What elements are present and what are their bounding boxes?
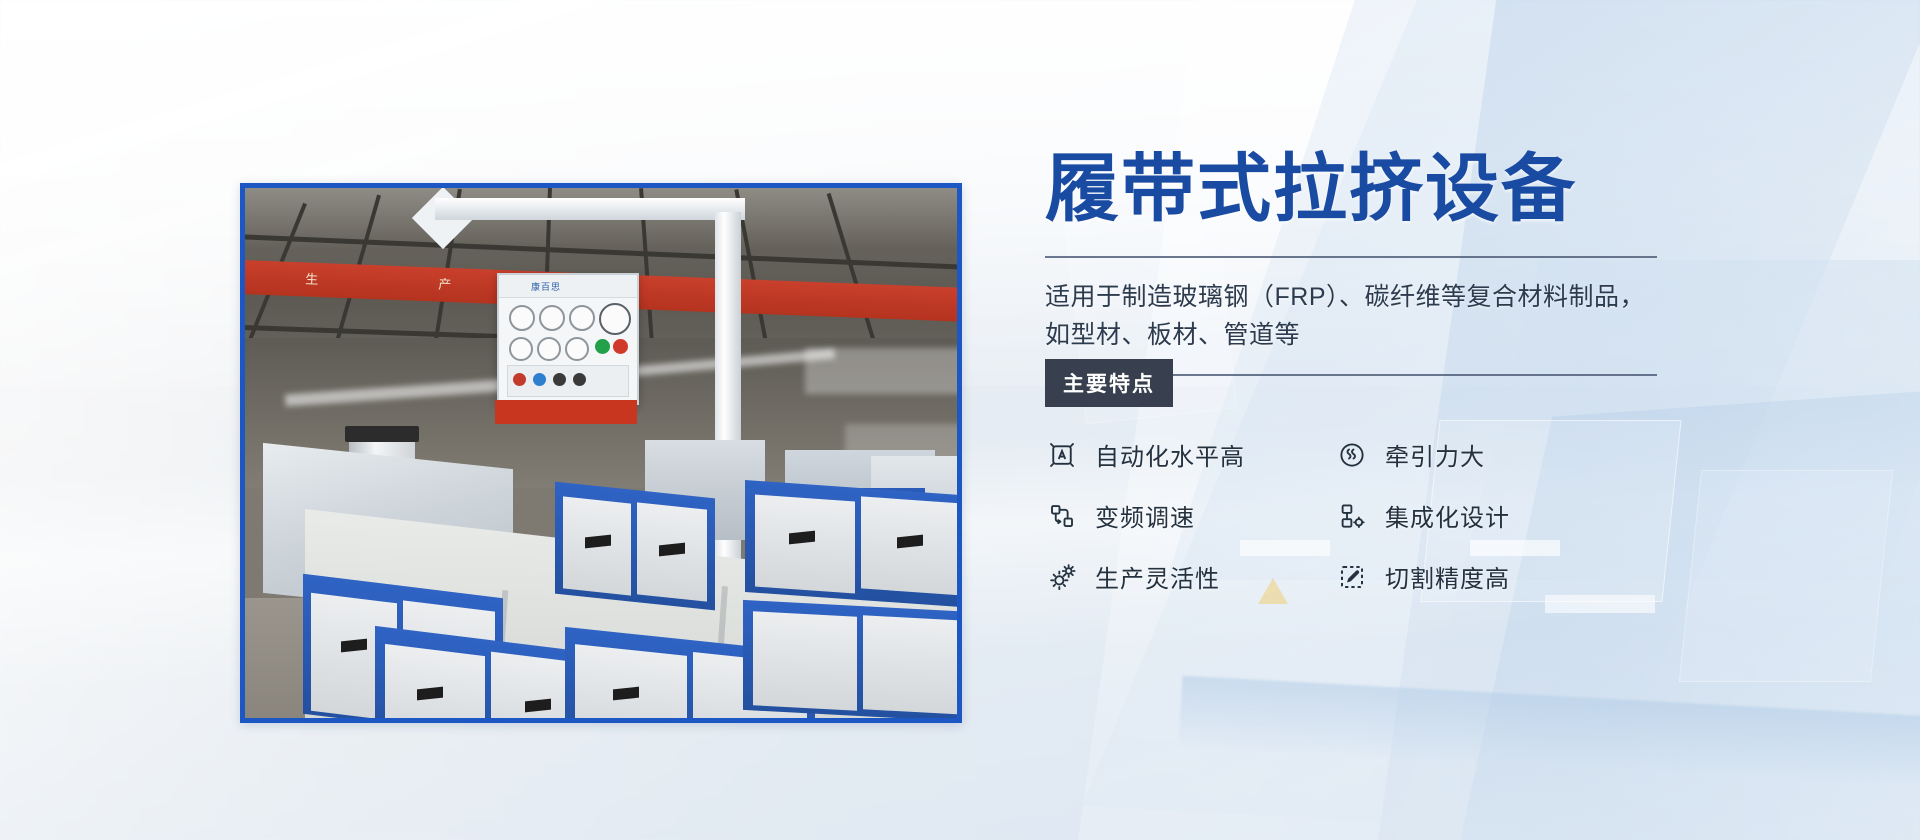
status-badge: 主要特点 (1045, 359, 1173, 407)
frequency-nodes-icon (1045, 499, 1079, 533)
background-ghost-shape (1679, 470, 1893, 682)
feature-item-traction[interactable]: 牵引力大 (1335, 437, 1625, 472)
title-divider (1045, 256, 1657, 258)
product-description: 适用于制造玻璃钢（FRP）、碳纤维等复合材料制品，如型材、板材、管道等 (1045, 278, 1665, 354)
feature-label: 生产灵活性 (1095, 559, 1220, 594)
photo-control-panel: 康百思 (497, 273, 639, 405)
product-photo: 生 产 康百思 (240, 183, 962, 723)
feature-label: 集成化设计 (1385, 498, 1510, 533)
photo-crane-text: 生 产 (305, 268, 510, 295)
page-title: 履带式拉挤设备 (1045, 150, 1665, 228)
feature-item-automation[interactable]: 自动化水平高 (1045, 437, 1335, 472)
traction-waves-icon (1335, 438, 1369, 472)
gears-icon (1045, 560, 1079, 594)
banner-content: 履带式拉挤设备 适用于制造玻璃钢（FRP）、碳纤维等复合材料制品，如型材、板材、… (1045, 150, 1665, 594)
auto-letter-a-icon (1045, 438, 1079, 472)
feature-item-integrated[interactable]: 集成化设计 (1335, 498, 1625, 533)
feature-item-flexibility[interactable]: 生产灵活性 (1045, 559, 1335, 594)
product-banner: 生 产 康百思 (0, 0, 1920, 840)
feature-item-cutting-precision[interactable]: 切割精度高 (1335, 559, 1625, 594)
feature-label: 切割精度高 (1385, 559, 1510, 594)
feature-list: 自动化水平高 牵引力大 (1045, 437, 1665, 594)
photo-gantry-beam (435, 198, 745, 220)
feature-label: 牵引力大 (1385, 437, 1485, 472)
feature-label: 变频调速 (1095, 498, 1195, 533)
integrated-design-icon (1335, 499, 1369, 533)
precision-pen-icon (1335, 560, 1369, 594)
feature-label: 自动化水平高 (1095, 437, 1245, 472)
feature-item-frequency[interactable]: 变频调速 (1045, 498, 1335, 533)
photo-panel-logo: 康百思 (531, 280, 561, 293)
background-ghost-shape (1545, 595, 1655, 613)
